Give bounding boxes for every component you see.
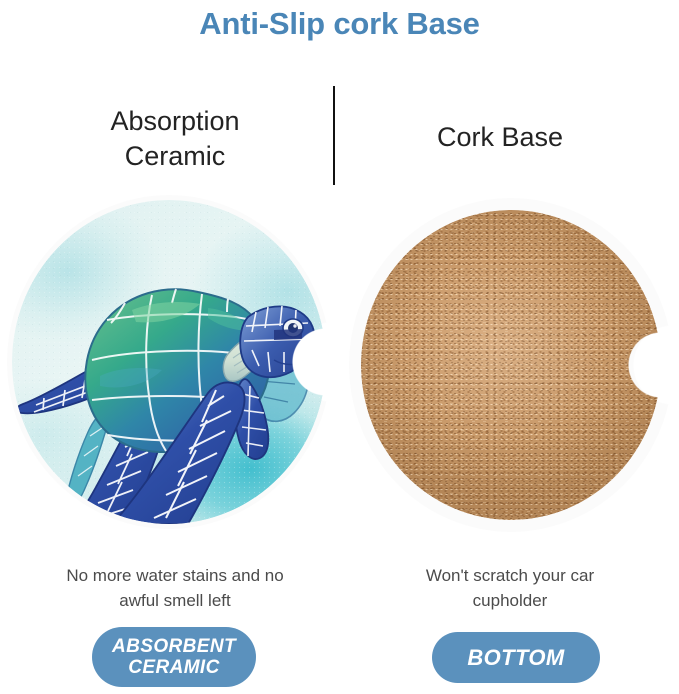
absorbent-ceramic-badge-line-2: CERAMIC — [112, 657, 236, 678]
right-caption: Won't scratch your car cupholder — [360, 564, 660, 613]
ceramic-coaster-disc — [12, 200, 326, 524]
column-divider — [333, 86, 335, 185]
cork-coaster-figure — [354, 203, 668, 527]
left-heading-line-1: Absorption — [30, 104, 320, 139]
left-caption: No more water stains and no awful smell … — [20, 564, 330, 613]
cork-coaster-disc — [361, 210, 661, 520]
right-column-heading: Cork Base — [350, 120, 650, 155]
bottom-badge: BOTTOM — [432, 632, 600, 683]
left-column-heading: Absorption Ceramic — [30, 104, 320, 173]
cork-shading — [361, 210, 661, 520]
left-caption-line-1: No more water stains and no — [20, 564, 330, 589]
bottom-badge-label: BOTTOM — [467, 645, 564, 671]
left-heading-line-2: Ceramic — [30, 139, 320, 174]
page-title: Anti-Slip cork Base — [0, 6, 679, 42]
absorbent-ceramic-badge-line-1: ABSORBENT — [112, 636, 236, 657]
ceramic-coaster-figure — [12, 200, 326, 524]
sea-turtle-illustration — [12, 200, 326, 524]
right-heading-line-1: Cork Base — [350, 120, 650, 155]
right-caption-line-2: cupholder — [360, 589, 660, 614]
absorbent-ceramic-badge: ABSORBENT CERAMIC — [92, 627, 256, 687]
right-caption-line-1: Won't scratch your car — [360, 564, 660, 589]
left-caption-line-2: awful smell left — [20, 589, 330, 614]
